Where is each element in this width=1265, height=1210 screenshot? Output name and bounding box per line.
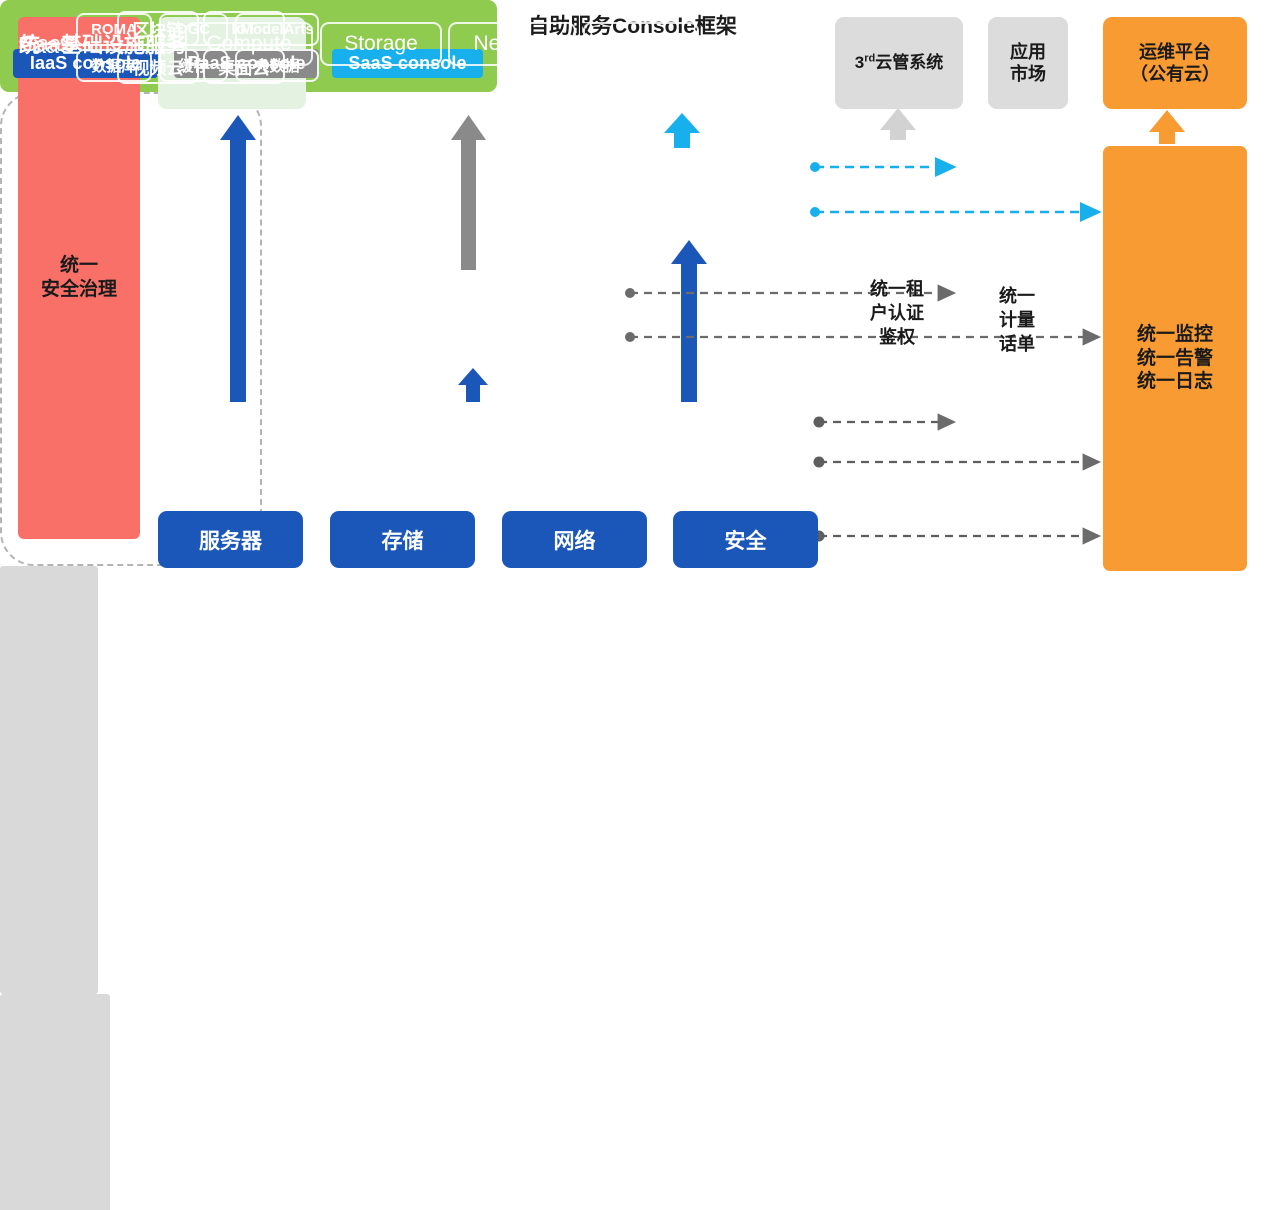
arrow-infra-to-saas — [671, 240, 707, 402]
ops-panel-line-2: 统一告警 — [1137, 347, 1213, 371]
third-party-suffix: 云管系统 — [875, 53, 943, 72]
arrow-to-ops-platform — [1149, 110, 1185, 144]
metering-line-1: 统一 — [962, 285, 1072, 309]
unified-tenant-auth-column[interactable] — [0, 566, 98, 994]
security-line-1: 统一 — [41, 254, 117, 278]
app-market-line-1: 应用 — [1010, 41, 1046, 64]
architecture-diagram: 统一 安全治理 API网关 自助服务Console框架 IaaS console… — [0, 0, 1265, 605]
security-governance-panel[interactable]: 统一 安全治理 — [18, 17, 140, 539]
infra-service-cce[interactable]: CCE — [583, 22, 699, 66]
ops-platform-line-2: （公有云） — [1130, 63, 1220, 86]
security-line-2: 安全治理 — [41, 278, 117, 302]
third-party-prefix: 3 — [855, 53, 864, 72]
arrow-infra-to-api-gateway — [220, 115, 256, 402]
unified-metering-column[interactable] — [0, 994, 110, 1210]
third-party-cloud-mgmt-box[interactable]: 3rd云管系统 — [835, 17, 963, 109]
app-market-line-2: 市场 — [1010, 63, 1046, 86]
auth-line-1: 统一租 — [848, 278, 946, 302]
unified-metering-label: 统一 计量 话单 — [962, 285, 1072, 356]
hardware-security[interactable]: 安全 — [673, 511, 818, 568]
infra-service-storage[interactable]: Storage — [320, 22, 442, 66]
hardware-server[interactable]: 服务器 — [158, 511, 303, 568]
infrastructure-label: 统一基础设施服务 — [19, 29, 187, 59]
auth-line-3: 鉴权 — [848, 326, 946, 350]
ops-panel-line-3: 统一日志 — [1137, 370, 1213, 394]
dashed-infra-to-auth — [814, 417, 954, 428]
dashed-infra-to-ops — [814, 457, 1099, 468]
ops-platform-box[interactable]: 运维平台 （公有云） — [1103, 17, 1247, 109]
third-party-superscript: rd — [864, 53, 875, 65]
dashed-hardware-to-ops — [814, 531, 1099, 542]
auth-line-2: 户认证 — [848, 302, 946, 326]
app-market-box[interactable]: 应用 市场 — [988, 17, 1068, 109]
infra-service-network[interactable]: Network — [448, 22, 576, 66]
infra-service-compute[interactable]: Compute — [185, 22, 313, 66]
dashed-saas-to-auth — [810, 162, 953, 172]
ops-capabilities-panel[interactable]: 统一监控 统一告警 统一日志 — [1103, 146, 1247, 571]
metering-line-3: 话单 — [962, 333, 1072, 357]
unified-tenant-auth-label: 统一租 户认证 鉴权 — [848, 278, 946, 349]
arrow-saas-to-console — [664, 113, 700, 148]
arrow-paas-to-console — [451, 115, 486, 270]
arrow-infra-to-paas — [458, 368, 488, 402]
arrow-to-third-party-cloud — [880, 108, 916, 140]
ops-platform-line-1: 运维平台 — [1130, 41, 1220, 64]
metering-line-2: 计量 — [962, 309, 1072, 333]
hardware-storage[interactable]: 存储 — [330, 511, 475, 568]
hardware-network[interactable]: 网络 — [502, 511, 647, 568]
ops-panel-line-1: 统一监控 — [1137, 323, 1213, 347]
dashed-saas-to-ops — [810, 207, 1098, 217]
third-party-cloud-label: 3rd云管系统 — [855, 52, 944, 73]
